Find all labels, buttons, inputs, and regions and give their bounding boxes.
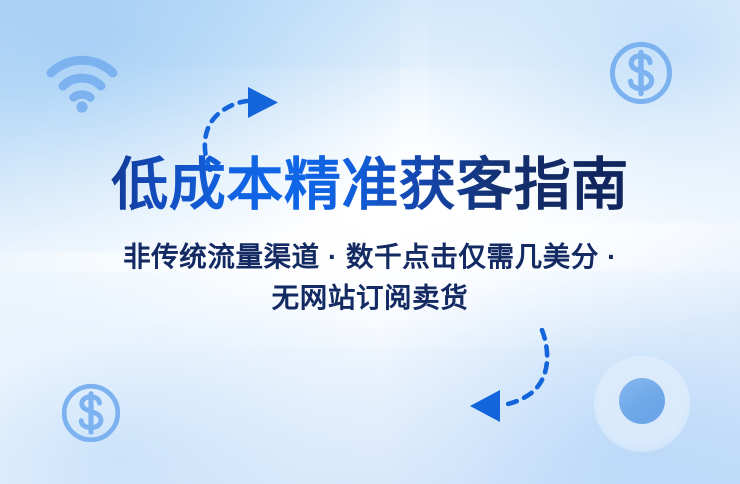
banner-subtitle: 非传统流量渠道 · 数千点击仅需几美分 · 无网站订阅卖货 (0, 236, 740, 318)
banner-subtitle-line-2: 无网站订阅卖货 (0, 277, 740, 318)
promo-banner: 低成本精准获客指南 非传统流量渠道 · 数千点击仅需几美分 · 无网站订阅卖货 (0, 0, 740, 484)
banner-text-block: 低成本精准获客指南 非传统流量渠道 · 数千点击仅需几美分 · 无网站订阅卖货 (0, 152, 740, 318)
banner-headline: 低成本精准获客指南 (0, 152, 740, 218)
banner-subtitle-line-1: 非传统流量渠道 · 数千点击仅需几美分 · (0, 236, 740, 277)
